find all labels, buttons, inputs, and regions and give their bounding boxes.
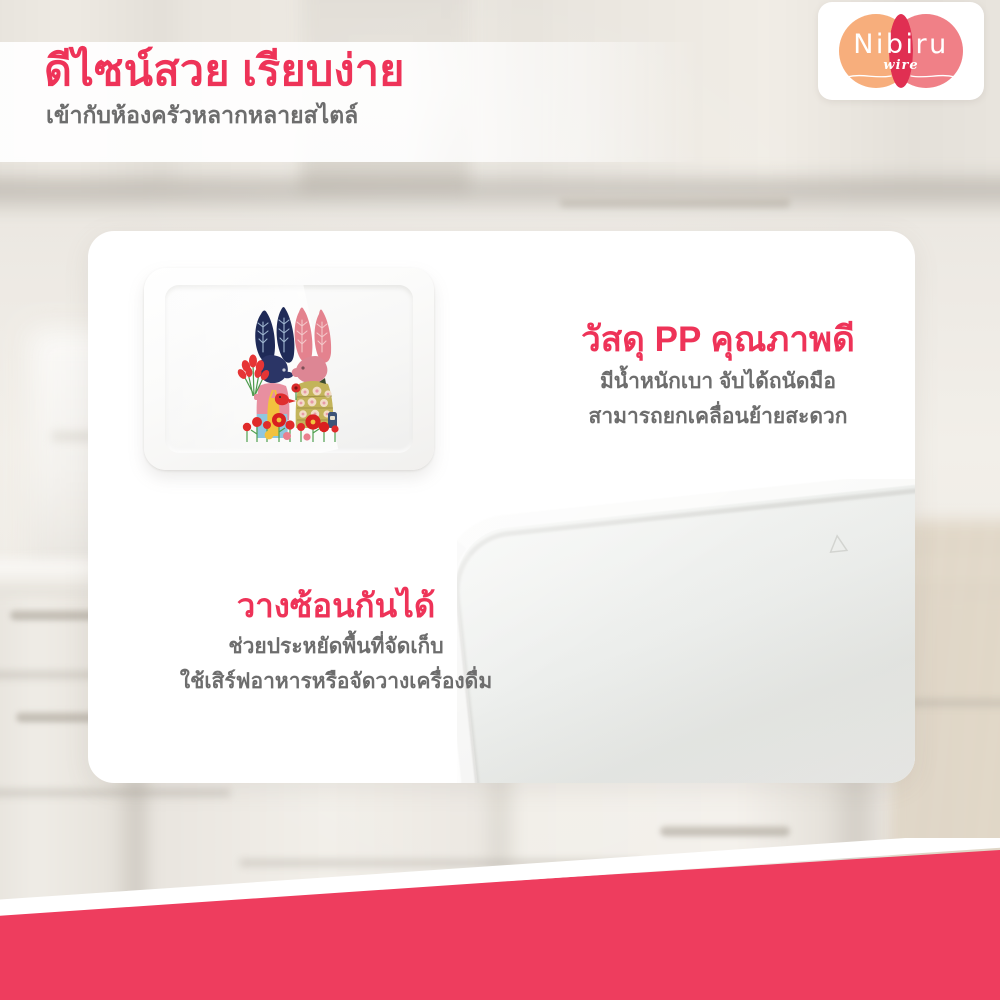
nibiru-logo-icon: Nibiru wire bbox=[839, 12, 963, 90]
feature-block-material: วัสดุ PP คุณภาพดี มีน้ำหนักเบา จับได้ถนั… bbox=[528, 319, 908, 431]
feature-title-stackable: วางซ้อนกันได้ bbox=[126, 586, 546, 626]
feature-card: วัสดุ PP คุณภาพดี มีน้ำหนักเบา จับได้ถนั… bbox=[88, 231, 915, 783]
tray-body bbox=[144, 268, 434, 470]
feature-title-material: วัสดุ PP คุณภาพดี bbox=[528, 319, 908, 361]
page-title: ดีไซน์สวย เรียบง่าย bbox=[44, 46, 684, 97]
logo-tagline: wire bbox=[839, 58, 963, 73]
rabbit-left bbox=[236, 307, 296, 438]
header-text-block: ดีไซน์สวย เรียบง่าย เข้ากับห้องครัวหลากห… bbox=[44, 46, 684, 129]
logo-swash-icon bbox=[845, 72, 957, 80]
feature-line-material-1: มีน้ำหนักเบา จับได้ถนัดมือ bbox=[528, 368, 908, 396]
feature-line-material-2: สามารถยกเคลื่อนย้ายสะดวก bbox=[528, 403, 908, 431]
feature-block-stackable: วางซ้อนกันได้ ช่วยประหยัดพื้นที่จัดเก็บ … bbox=[126, 586, 546, 695]
logo-wordmark: Nibiru bbox=[839, 29, 963, 60]
tray-product-image bbox=[134, 256, 444, 481]
recycle-triangle-icon bbox=[826, 532, 850, 556]
rabbit-couple-illustration bbox=[227, 302, 351, 442]
brand-logo-card[interactable]: Nibiru wire bbox=[818, 2, 984, 100]
tray-inner-surface bbox=[165, 285, 413, 453]
page-subtitle: เข้ากับห้องครัวหลากหลายสไตล์ bbox=[46, 101, 684, 130]
product-feature-banner: ดีไซน์สวย เรียบง่าย เข้ากับห้องครัวหลากห… bbox=[0, 0, 1000, 1000]
feature-line-stackable-1: ช่วยประหยัดพื้นที่จัดเก็บ bbox=[126, 633, 546, 661]
rabbit-right bbox=[291, 308, 337, 428]
feature-line-stackable-2: ใช้เสิร์ฟอาหารหรือจัดวางเครื่องดื่ม bbox=[126, 668, 546, 696]
